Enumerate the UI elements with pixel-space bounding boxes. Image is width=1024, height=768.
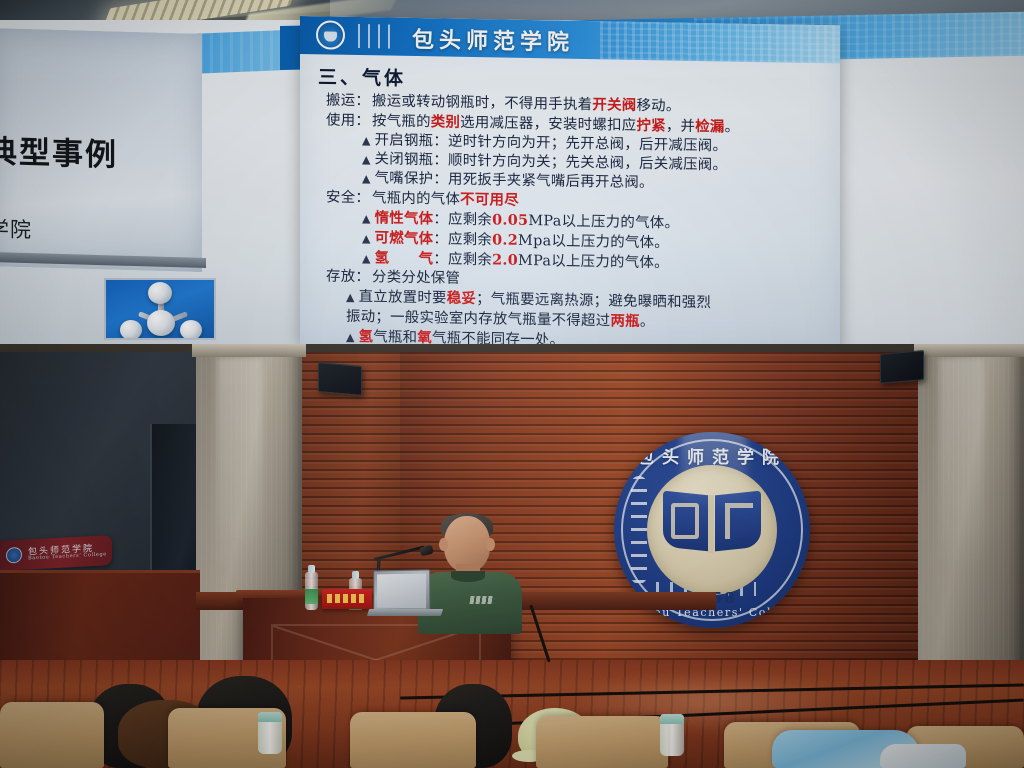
slide-text: Mpa以上压力的气体。 (518, 233, 669, 252)
speaker-box-left (318, 362, 362, 396)
auditorium-seat[interactable] (350, 712, 476, 768)
triangle-bullet-icon: ▲ (362, 134, 375, 147)
triangle-bullet-icon: ▲ (362, 212, 375, 225)
slide-line-label-tail: ： (433, 231, 448, 247)
triangle-bullet-icon: ▲ (362, 252, 375, 265)
slide-line-list: 搬运：搬运或转动钢瓶时，不得用手执着开关阀移动。使用：按气瓶的类别选用减压器，安… (318, 90, 826, 353)
slide-text: ；气瓶要远离热源；避免曝晒和强烈 (476, 291, 711, 311)
slide-text-highlight: 0.2 (492, 231, 518, 248)
slide-text: 应剩余 (448, 252, 492, 269)
slide-text: 。 (725, 119, 740, 135)
slide-line-label: 使用： (326, 111, 372, 131)
slide-text: 应剩余 (448, 212, 492, 229)
molecule-model-image (104, 278, 216, 340)
triangle-bullet-icon: ▲ (362, 153, 375, 166)
slide-text: 顺时针方向为关；先关总阀，后关减压阀。 (448, 153, 727, 174)
emblem-glare (681, 432, 748, 510)
triangle-bullet-icon: ▲ (362, 232, 375, 245)
slide-line-label-tail: ： (433, 211, 448, 227)
slide-line-label: 气嘴保护： (375, 169, 448, 189)
slide-text: 气瓶内的气体 (372, 190, 460, 208)
pillar-cap-left (192, 344, 306, 357)
lecture-hall-photo: 包头师范学院 典型事例 学院 包头师范学院 三、气体 搬运：搬运或转动钢瓶时，不… (0, 0, 1024, 768)
red-nameplate (322, 589, 372, 609)
slide-text-highlight: 0.05 (492, 211, 528, 229)
slide-text: 选用减压器，安装时螺扣应 (460, 115, 636, 134)
triangle-bullet-icon: ▲ (346, 291, 359, 304)
left-projection-screen: 典型事例 学院 (0, 28, 202, 272)
slide-text-highlight: 氢 (359, 328, 374, 345)
drinking-cup (258, 712, 282, 754)
slide-text: 按气瓶的 (372, 113, 431, 130)
wall-sign-plaque: 包头师范学院 Baotou Teachers' College (0, 535, 112, 571)
slide-line-label: 搬运： (326, 91, 372, 111)
campus-building-graphic (600, 21, 840, 63)
main-projection-screen: 包头师范学院 三、气体 搬运：搬运或转动钢瓶时，不得用手执着开关阀移动。使用：按… (300, 16, 840, 353)
slide-text-highlight: 2.0 (492, 251, 518, 268)
triangle-bullet-icon: ▲ (362, 172, 375, 185)
slide-line-label: 存放： (326, 267, 372, 287)
presenter-ear-left (439, 538, 448, 551)
slide-text-highlight: 两瓶 (610, 312, 639, 330)
presenter-collar (451, 571, 485, 582)
slide-text: 应剩余 (448, 232, 492, 249)
slide-text: MPa以上压力的气体。 (528, 213, 679, 232)
left-slide-title: 典型事例 (0, 126, 118, 175)
college-seal-icon (6, 547, 22, 564)
mongolian-script-icon (358, 24, 398, 49)
slide-text: 振动；一般实验室内存放气瓶量不得超过 (346, 309, 610, 330)
slide-line-label: 安全： (326, 188, 372, 208)
auditorium-seat[interactable] (536, 716, 668, 768)
slide-line-label: 可燃气体 (375, 229, 434, 247)
white-cloth-item (880, 744, 966, 768)
laptop-screen (373, 569, 430, 612)
auditorium-seat[interactable] (0, 702, 104, 768)
slide-text: 搬运或转动钢瓶时，不得用手执着 (372, 93, 592, 113)
speaker-box-right (880, 350, 924, 384)
slide-text: ，并 (666, 118, 695, 135)
slide-text-highlight: 拧紧 (636, 117, 665, 135)
slide-text-highlight: 不可用尽 (460, 191, 519, 209)
nameplate-text-icon (327, 594, 367, 603)
slide-line-label: 氢 气 (375, 249, 434, 267)
slide-text: 。 (640, 314, 655, 330)
water-bottle (305, 572, 318, 610)
presenter-shirt-logo (469, 596, 494, 604)
slide-text-highlight: 开关阀 (592, 96, 636, 114)
slide-line-label-tail: ： (433, 251, 448, 267)
slide-text: 分类分处保管 (372, 269, 460, 287)
slide-line-label: 开启钢瓶： (375, 131, 448, 151)
slide-text-highlight: 稳妥 (447, 290, 476, 308)
stone-pillar-right (918, 344, 1024, 684)
slide-text-highlight: 类别 (431, 113, 460, 131)
pillar-cap-right (914, 344, 1024, 357)
triangle-bullet-icon: ▲ (346, 331, 359, 344)
college-seal-icon (316, 20, 345, 50)
slide-text: 逆时针方向为开；先开总阀，后开减压阀。 (448, 134, 727, 155)
slide-body: 三、气体 搬运：搬运或转动钢瓶时，不得用手执着开关阀移动。使用：按气瓶的类别选用… (300, 54, 840, 353)
drinking-cup (660, 714, 684, 756)
slide-text: 用死扳手夹紧气嘴后再开总阀。 (448, 172, 654, 192)
laptop-base (367, 609, 443, 616)
left-slide-subtitle: 学院 (0, 213, 32, 244)
slide-text: 直立放置时要 (359, 289, 447, 307)
slide-header-title: 包头师范学院 (412, 22, 574, 57)
slide-line-label: 惰性气体 (375, 209, 434, 227)
slide-line-label: 关闭钢瓶： (375, 150, 448, 170)
slide-text: 移动。 (636, 98, 680, 115)
emblem-mongolian-script-icon (631, 476, 647, 584)
presenter (418, 516, 522, 616)
slide-text-highlight: 检漏 (695, 118, 724, 136)
presenter-ear-right (486, 538, 495, 551)
slide-text: MPa以上压力的气体。 (518, 253, 669, 272)
